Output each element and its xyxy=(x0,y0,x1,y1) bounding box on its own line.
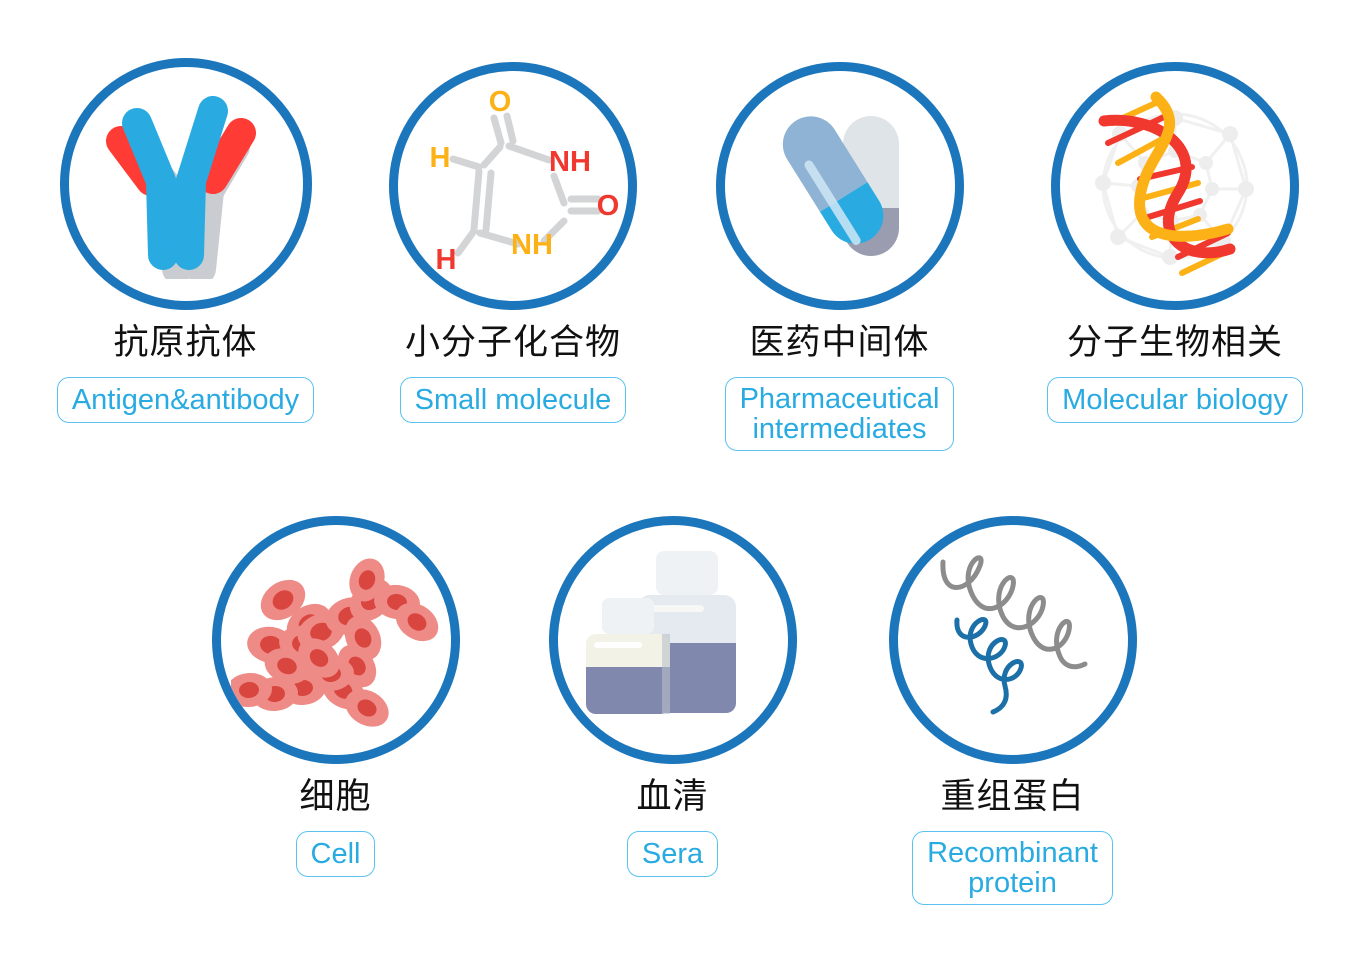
vial-large-highlight xyxy=(648,605,704,612)
category-card-molecular-biology[interactable]: 分子生物相关 Molecular biology xyxy=(1040,62,1310,423)
category-card-cell[interactable]: 细胞 Cell xyxy=(208,516,463,877)
icon-circle-antibody[interactable] xyxy=(60,58,312,310)
atom-label-nh-bottom: NH xyxy=(511,229,553,261)
category-grid: 抗原抗体 Antigen&antibody xyxy=(0,0,1356,955)
vial-small-highlight xyxy=(594,642,642,648)
icon-circle-molecule[interactable]: O NH O NH H H xyxy=(389,62,637,310)
icon-circle-sera[interactable] xyxy=(549,516,797,764)
icon-circle-cell[interactable] xyxy=(212,516,460,764)
atom-label-o-top: O xyxy=(489,86,512,118)
vial-small-edge xyxy=(662,634,670,714)
category-en-pill[interactable]: Molecular biology xyxy=(1047,377,1303,423)
category-en-pill[interactable]: Recombinant protein xyxy=(912,831,1113,906)
category-card-sera[interactable]: 血清 Sera xyxy=(545,516,800,877)
category-card-pharmaceutical-intermediates[interactable]: 医药中间体 Pharmaceutical intermediates xyxy=(712,62,967,451)
category-cn-label: 医药中间体 xyxy=(749,324,929,363)
category-en-pill[interactable]: Small molecule xyxy=(400,377,627,423)
molecule-structure-icon: O NH O NH H H xyxy=(408,81,618,291)
category-cn-label: 小分子化合物 xyxy=(405,324,621,363)
category-en-pill[interactable]: Pharmaceutical intermediates xyxy=(725,377,955,452)
category-cn-label: 重组蛋白 xyxy=(940,778,1084,817)
vial-small-cap xyxy=(602,598,654,634)
atom-label-nh-upper-right: NH xyxy=(549,146,591,178)
protein-helix-blue xyxy=(956,620,1021,712)
icon-circle-capsules[interactable] xyxy=(716,62,964,310)
category-en-pill[interactable]: Antigen&antibody xyxy=(57,377,314,423)
atom-label-h-left: H xyxy=(430,142,451,174)
category-en-pill[interactable]: Sera xyxy=(627,831,718,877)
cell-group xyxy=(231,554,441,735)
category-en-pill[interactable]: Cell xyxy=(296,831,376,877)
cell-cluster-icon xyxy=(231,540,441,740)
category-card-antigen-antibody[interactable]: 抗原抗体 Antigen&antibody xyxy=(38,58,333,423)
category-cn-label: 血清 xyxy=(636,778,708,817)
dna-helix-icon xyxy=(1060,71,1290,301)
atom-label-o-right: O xyxy=(597,190,618,222)
vial-large-cap xyxy=(656,551,718,595)
protein-helix-gray xyxy=(942,558,1084,667)
category-cn-label: 分子生物相关 xyxy=(1067,324,1283,363)
serum-vials-icon xyxy=(578,543,768,738)
category-cn-label: 抗原抗体 xyxy=(113,324,257,363)
category-card-recombinant-protein[interactable]: 重组蛋白 Recombinant protein xyxy=(885,516,1140,905)
antibody-icon xyxy=(91,89,281,279)
capsule-pills-icon xyxy=(750,96,930,276)
category-cn-label: 细胞 xyxy=(299,778,371,817)
atom-label-h-bottom-left: H xyxy=(436,244,457,276)
icon-circle-protein[interactable] xyxy=(889,516,1137,764)
protein-helix-icon xyxy=(913,540,1113,740)
vial-small-liquid xyxy=(586,667,670,714)
icon-circle-dna[interactable] xyxy=(1051,62,1299,310)
category-card-small-molecule[interactable]: O NH O NH H H 小分子化合物 Small molecule xyxy=(383,62,643,423)
